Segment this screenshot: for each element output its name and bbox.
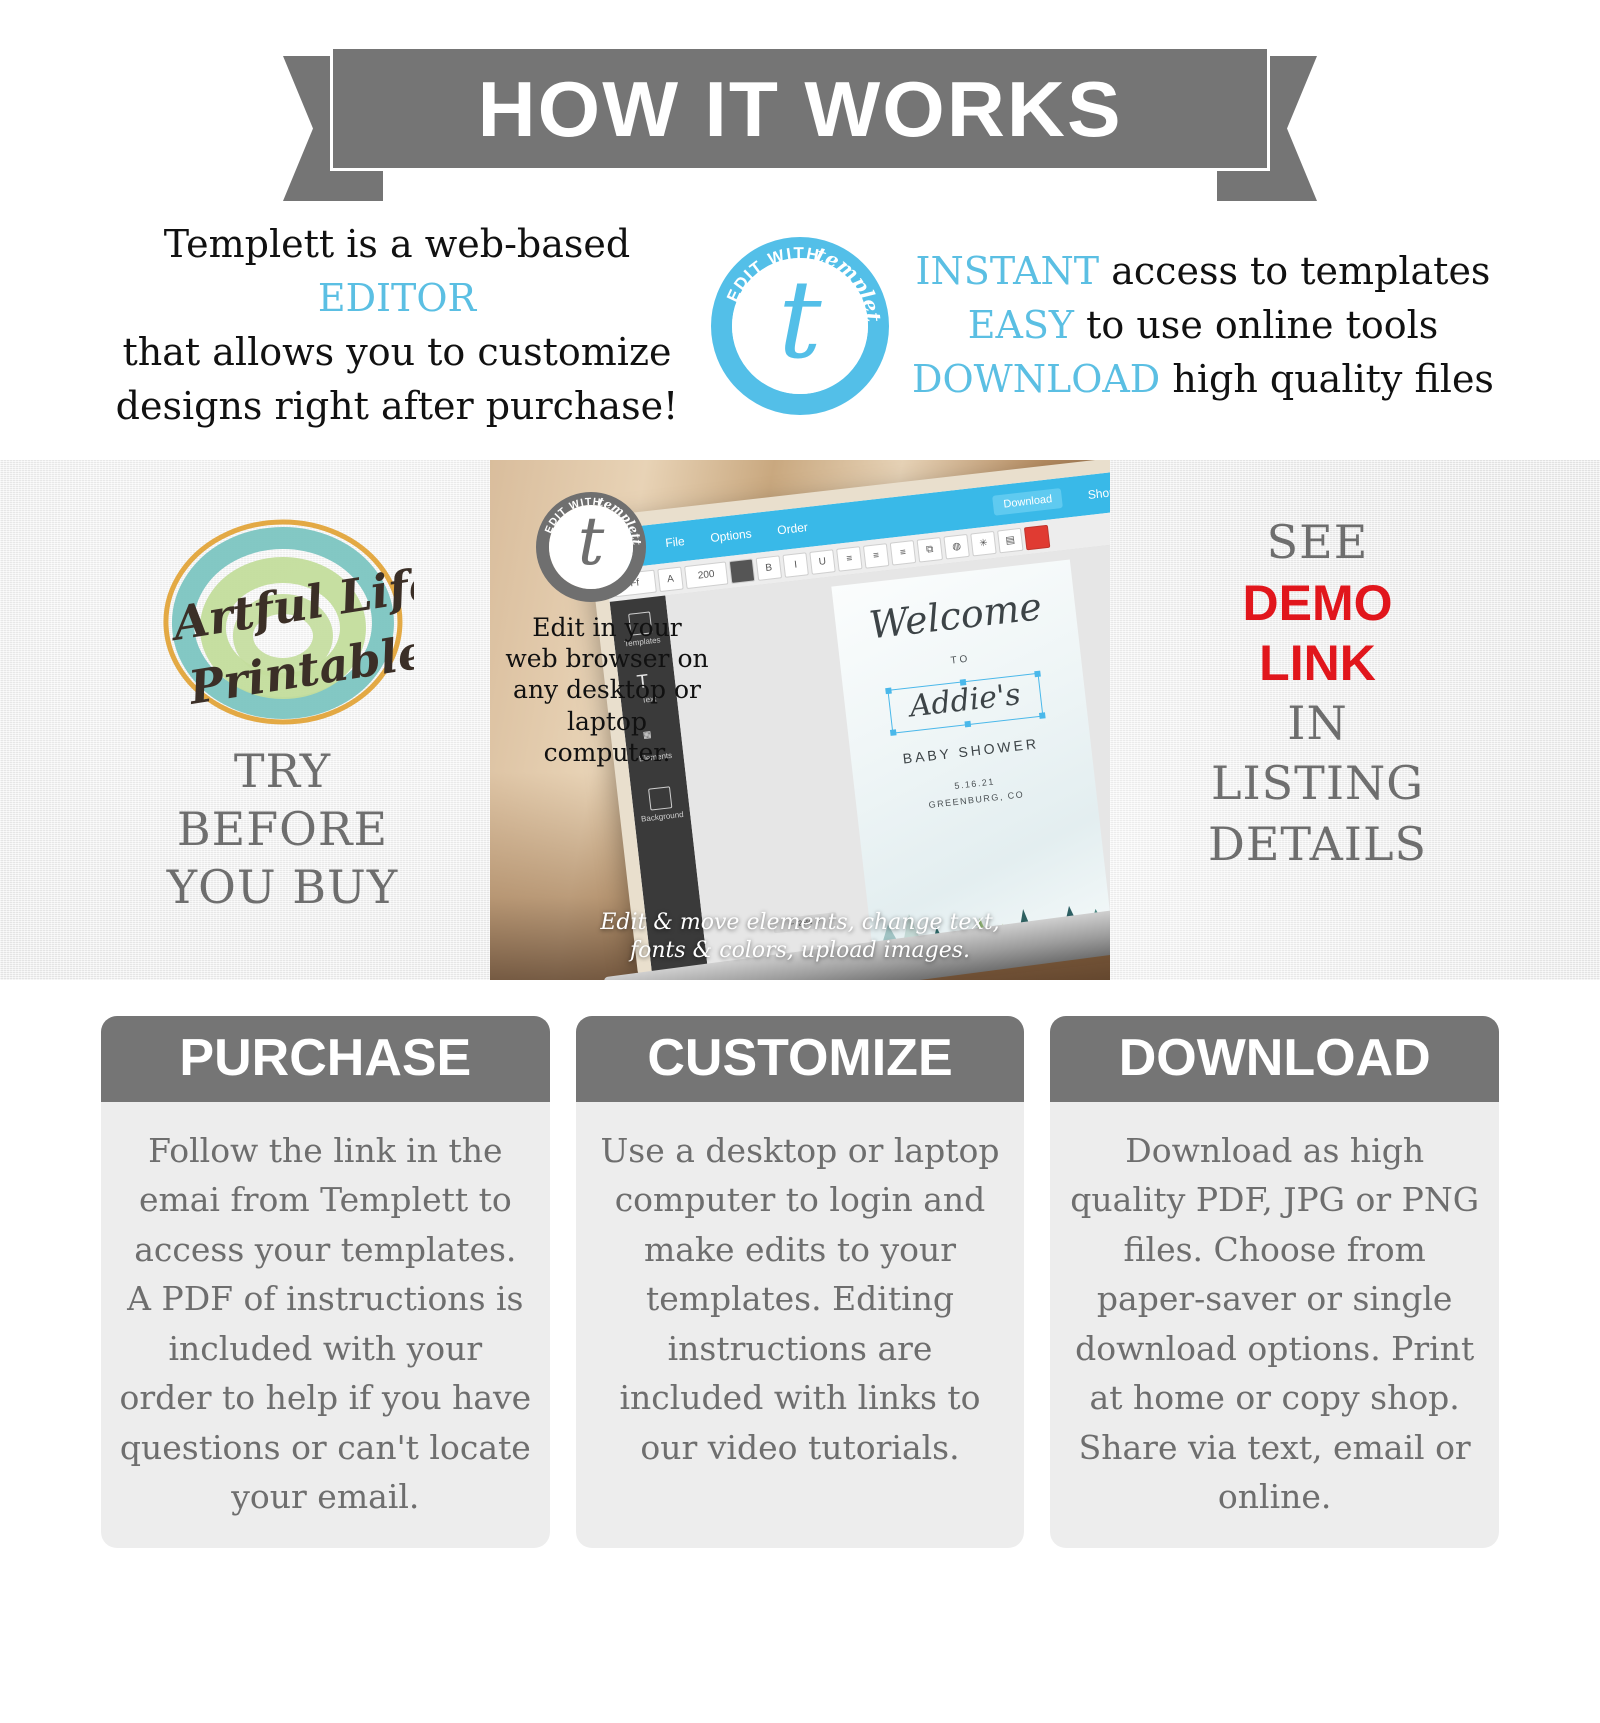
header-banner: HOW IT WORKS xyxy=(75,0,1525,210)
card-customize: CUSTOMIZE Use a desktop or laptop comput… xyxy=(576,1016,1025,1548)
topbar-spacer xyxy=(834,509,968,524)
intro-right-line3-plain: high quality files xyxy=(1160,357,1494,401)
badge-arc-text: EDIT WITH templett EDITABLE TEMPLATE xyxy=(711,237,889,415)
card-download-body: Download as high quality PDF, JPG or PNG… xyxy=(1050,1102,1499,1548)
demo-link-column: SEE DEMO LINK IN LISTING DETAILS xyxy=(1110,460,1525,980)
app-menu-order[interactable]: Order xyxy=(777,520,809,537)
middle-section: Artful Life Printables TRY BEFORE YOU BU… xyxy=(75,460,1525,980)
photo-caption-top-line3: any desktop or xyxy=(502,674,712,705)
align-left-icon[interactable]: ≡ xyxy=(836,545,862,571)
intro-right-line3-highlight: DOWNLOAD xyxy=(912,357,1160,401)
intro-right-line1: INSTANT access to templates xyxy=(903,245,1503,299)
handle-bl[interactable] xyxy=(890,729,897,736)
font-size-input[interactable]: 200 xyxy=(684,561,728,589)
steps-cards: PURCHASE Follow the link in the emai fro… xyxy=(75,980,1525,1582)
card-purchase-title: PURCHASE xyxy=(101,1016,550,1102)
photo-caption-top-line4: laptop computer. xyxy=(502,706,712,769)
app-menu-file[interactable]: File xyxy=(665,534,686,550)
photo-badge-script-text: templett xyxy=(597,495,644,546)
try-line3: YOU BUY xyxy=(167,859,398,917)
try-line2: BEFORE xyxy=(167,801,398,859)
card-customize-body: Use a desktop or laptop computer to logi… xyxy=(576,1102,1025,1499)
handle-bc[interactable] xyxy=(964,721,971,728)
templett-badge-gray: t EDIT WITH templett EDITABLE TEMPLATE xyxy=(536,492,646,602)
artful-life-printables-logo: Artful Life Printables xyxy=(152,508,414,733)
handle-tr[interactable] xyxy=(1034,670,1041,677)
app-menu-options[interactable]: Options xyxy=(710,526,753,545)
intro-right-line2: EASY to use online tools xyxy=(903,299,1503,353)
demo-line-see: SEE xyxy=(1208,512,1427,573)
brand-column: Artful Life Printables TRY BEFORE YOU BU… xyxy=(75,460,490,980)
card-purchase-body: Follow the link in the emai from Templet… xyxy=(101,1102,550,1548)
photo-badge-top-text: EDIT WITH xyxy=(543,496,603,535)
settings-icon[interactable]: ✳ xyxy=(970,530,996,556)
rail-label-background: Background xyxy=(641,810,684,824)
try-before-you-buy: TRY BEFORE YOU BUY xyxy=(167,743,398,917)
demo-line-demo: DEMO xyxy=(1208,573,1427,633)
photo-caption-bottom-line1: Edit & move elements, change text, xyxy=(490,909,1110,938)
intro-right-line2-plain: to use online tools xyxy=(1074,303,1438,347)
opacity-icon[interactable]: ◍ xyxy=(943,533,969,559)
photo-badge-arc-text: EDIT WITH templett EDITABLE TEMPLATE xyxy=(536,492,646,602)
app-download-button[interactable]: Download xyxy=(992,488,1063,516)
page-title: HOW IT WORKS xyxy=(477,70,1122,148)
intro-text-left: Templett is a web-based EDITOR that allo… xyxy=(97,218,711,434)
underline-icon[interactable]: U xyxy=(809,549,835,575)
demo-link-text: SEE DEMO LINK IN LISTING DETAILS xyxy=(1208,512,1427,875)
intro-left-line1: Templett is a web-based EDITOR xyxy=(97,218,697,326)
invite-name-selection[interactable]: Addie's xyxy=(887,673,1043,734)
photo-caption-bottom-line2: fonts & colors, upload images. xyxy=(490,937,1110,966)
demo-line-details: DETAILS xyxy=(1208,814,1427,875)
intro-right-line1-highlight: INSTANT xyxy=(916,249,1100,293)
app-canvas[interactable]: Welcome TO Addie's BABY xyxy=(665,531,1110,967)
card-customize-title: CUSTOMIZE xyxy=(576,1016,1025,1102)
demo-line-link: LINK xyxy=(1208,633,1427,693)
photo-caption-top-line1: Edit in your xyxy=(502,612,712,643)
invite-welcome: Welcome xyxy=(834,583,1077,648)
badge-top-text: EDIT WITH xyxy=(723,244,822,305)
banner-plate: HOW IT WORKS xyxy=(330,46,1270,171)
photo-caption-bottom: Edit & move elements, change text, fonts… xyxy=(490,909,1110,966)
handle-tc[interactable] xyxy=(960,679,967,686)
card-download: DOWNLOAD Download as high quality PDF, J… xyxy=(1050,1016,1499,1548)
intro-left-line3: designs right after purchase! xyxy=(97,380,697,434)
demo-line-listing: LISTING xyxy=(1208,753,1427,814)
layer-icon[interactable]: ▤ xyxy=(997,527,1023,553)
intro-left-line1-highlight: EDITOR xyxy=(318,276,476,320)
invite-event: BABY SHOWER xyxy=(851,729,1091,772)
handle-br[interactable] xyxy=(1039,712,1046,719)
align-center-icon[interactable]: ≡ xyxy=(863,542,889,568)
templett-badge-blue: t EDIT WITH templett EDITABLE TEMPLATE xyxy=(711,237,889,415)
delete-icon[interactable] xyxy=(1024,524,1050,550)
app-shop-button[interactable]: Shop xyxy=(1087,485,1110,502)
photo-caption-top-line2: web browser on xyxy=(502,643,712,674)
bold-icon[interactable]: B xyxy=(756,555,782,581)
try-line1: TRY xyxy=(167,743,398,801)
intro-left-line1-plain: Templett is a web-based xyxy=(164,222,630,266)
intro-section: Templett is a web-based EDITOR that allo… xyxy=(0,210,1600,460)
align-right-icon[interactable]: ≡ xyxy=(890,539,916,565)
intro-right-line3: DOWNLOAD high quality files xyxy=(903,353,1503,407)
card-purchase: PURCHASE Follow the link in the emai fro… xyxy=(101,1016,550,1548)
intro-right-line2-highlight: EASY xyxy=(968,303,1074,347)
demo-line-in: IN xyxy=(1208,693,1427,754)
intro-left-line2: that allows you to customize xyxy=(97,326,697,380)
card-download-title: DOWNLOAD xyxy=(1050,1016,1499,1102)
rail-item-background[interactable]: Background xyxy=(638,785,684,824)
copy-icon[interactable]: ⧉ xyxy=(917,536,943,562)
photo-caption-top: Edit in your web browser on any desktop … xyxy=(502,612,712,768)
intro-text-right: INSTANT access to templates EASY to use … xyxy=(889,245,1503,407)
laptop-photo: t File Options Order Download Shop Admin… xyxy=(490,460,1110,980)
background-icon xyxy=(648,786,672,810)
italic-icon[interactable]: I xyxy=(782,552,808,578)
handle-tl[interactable] xyxy=(885,687,892,694)
intro-right-line1-plain: access to templates xyxy=(1099,249,1490,293)
color-swatch-icon[interactable] xyxy=(729,558,755,584)
text-color-icon[interactable]: A xyxy=(657,566,683,592)
